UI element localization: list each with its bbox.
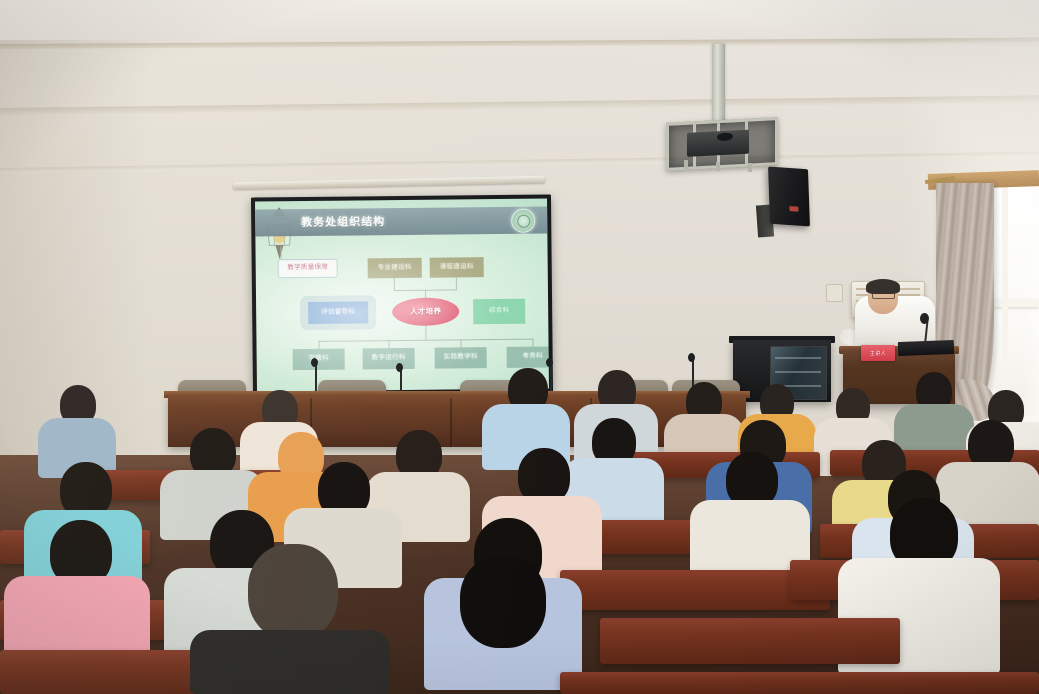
laptop[interactable] <box>898 340 954 356</box>
projector-foot <box>748 163 752 172</box>
audience-torso <box>190 630 390 694</box>
audience-head <box>460 556 546 648</box>
org-node-tier3-3: 考务科 <box>507 346 549 368</box>
seat-row-bench[interactable] <box>560 672 1039 694</box>
slide-surface: 教务处组织结构 专业建设科 课程建设科 教学质量保障 评估督导科 人才培养 综合… <box>255 198 549 391</box>
table-mic-head <box>688 353 695 362</box>
wall-speaker <box>768 167 810 227</box>
org-node-tier1-1: 课程建设科 <box>430 257 484 278</box>
projector-foot <box>684 160 688 169</box>
connector <box>318 341 319 349</box>
table-mic-head <box>396 363 403 372</box>
slide-title: 教务处组织结构 <box>301 213 385 230</box>
projector-lens <box>717 132 733 141</box>
connector <box>456 277 457 289</box>
projector-body <box>687 130 749 157</box>
org-node-talent-cultivation: 人才培养 <box>392 297 459 326</box>
org-node-tier3-2: 实践教学科 <box>435 347 487 369</box>
name-placard-text: 主讲人 <box>870 350 887 357</box>
window-mullion-vertical <box>1002 182 1008 412</box>
projector-cage <box>666 117 778 171</box>
connector <box>318 339 532 342</box>
projector-foot <box>716 162 720 171</box>
slide-header-bar <box>255 206 547 236</box>
lecture-hall-photo: 教务处组织结构 专业建设科 课程建设科 教学质量保障 评估督导科 人才培养 综合… <box>0 0 1039 694</box>
audience-head <box>248 544 338 640</box>
seat-row-bench[interactable] <box>0 650 200 694</box>
connector <box>532 339 533 347</box>
glasses-icon <box>872 292 895 299</box>
connector <box>388 340 389 348</box>
table-mic-head <box>311 358 318 367</box>
callout-tail <box>280 246 281 259</box>
org-node-tier1-0: 专业建设科 <box>368 258 422 279</box>
wall-control-panel[interactable] <box>826 284 843 302</box>
org-callout-quality: 教学质量保障 <box>278 259 338 279</box>
podium-mic-head <box>920 313 929 324</box>
speaker-brand-logo <box>789 206 798 212</box>
table-mic-head <box>546 358 553 367</box>
org-node-tier3-1: 教学运行科 <box>363 348 415 370</box>
projector-mount-pole <box>712 44 725 124</box>
seat-row-bench[interactable] <box>600 618 900 664</box>
org-node-tier3-0: 学籍科 <box>293 349 345 371</box>
name-placard: 主讲人 <box>861 345 895 361</box>
school-emblem-icon <box>511 209 535 233</box>
connector <box>394 278 395 290</box>
org-node-evaluation: 评估督导科 <box>308 301 368 324</box>
org-node-comprehensive: 综合科 <box>473 299 525 325</box>
connector <box>460 339 461 347</box>
connector <box>425 326 426 340</box>
